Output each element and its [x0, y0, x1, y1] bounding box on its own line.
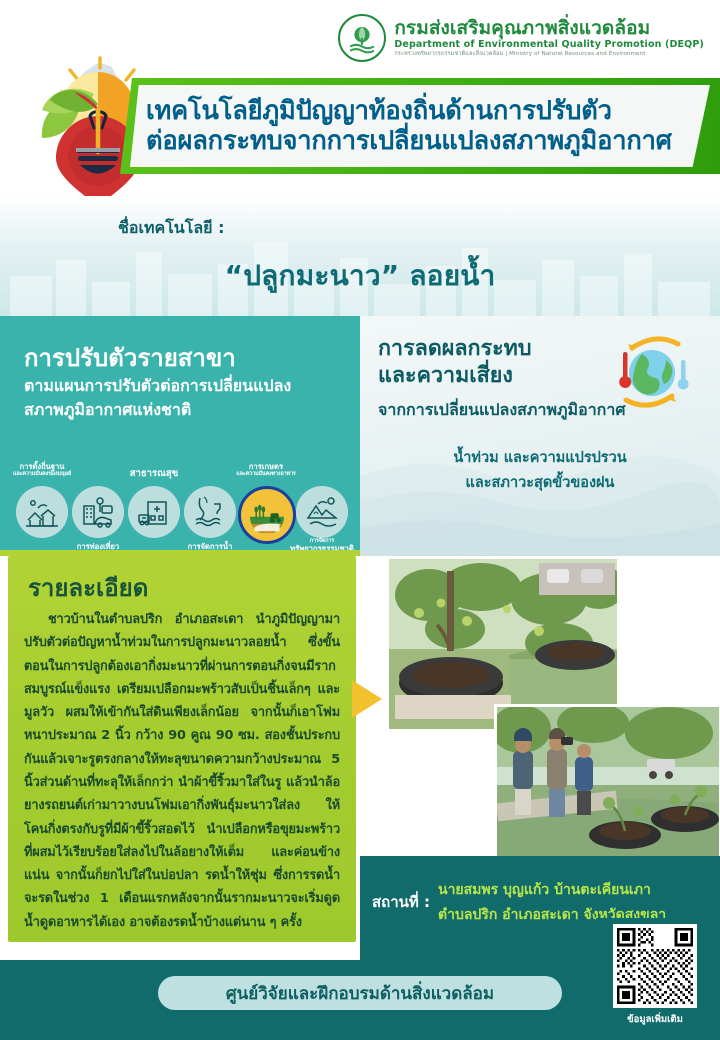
qr-code-caption: ข้อมูลเพิ่มเติม — [627, 1012, 683, 1027]
poster-header: กรมส่งเสริมคุณภาพสิ่งแวดล้อม Department … — [0, 0, 720, 200]
natural-resources-icon — [296, 486, 348, 538]
title-line-2: ต่อผลกระทบจากการเปลี่ยนแปลงสภาพภูมิอากาศ — [146, 126, 706, 156]
adaptation-subheading-line-2: สภาพภูมิอากาศแห่งชาติ — [24, 400, 191, 419]
technology-name-band: ชื่อเทคโนโลยี : “ปลูกมะนาว” ลอยน้ำ — [0, 196, 720, 316]
tourism-icon — [72, 486, 124, 538]
org-ministry-line: กระทรวงทรัพยากรธรรมชาติและสิ่งแวดล้อม | … — [394, 52, 704, 58]
mitigation-body-line-1: น้ำท่วม และความแปรปรวน — [453, 450, 626, 466]
qr-code-block[interactable]: ข้อมูลเพิ่มเติม — [596, 918, 714, 1036]
sector-item-settlement[interactable]: การตั้งถิ่นฐาน และความมั่นคงของมนุษย์ — [14, 486, 70, 538]
mitigation-heading-line-1: การลดผลกระทบ — [378, 336, 531, 361]
sector-item-natural-resources[interactable]: การจัดการ ทรัพยากรธรรมชาติ — [294, 486, 350, 538]
main-title-ribbon: เทคโนโลยีภูมิปัญญาท้องถิ่นด้านการปรับตัว… — [120, 78, 720, 174]
mitigation-panel: การลดผลกระทบ และความเสี่ยง จากการเปลี่ยน… — [360, 316, 720, 556]
footer-organization-label: ศูนย์วิจัยและฝึกอบรมด้านสิ่งแวดล้อม — [226, 980, 494, 1007]
mitigation-heading-line-2: และความเสี่ยง — [378, 363, 513, 388]
sector-caption-settlement: การตั้งถิ่นฐาน และความมั่นคงของมนุษย์ — [0, 462, 92, 478]
qr-code-image[interactable] — [613, 924, 697, 1008]
deqp-logo: กรมส่งเสริมคุณภาพสิ่งแวดล้อม Department … — [338, 14, 704, 62]
mitigation-subheading: จากการเปลี่ยนแปลงสภาพภูมิอากาศ — [378, 398, 708, 423]
adaptation-heading: การปรับตัวรายสาขา — [24, 338, 236, 377]
sector-caption-public-health: สาธารณสุข — [104, 468, 204, 479]
mitigation-body-line-2: และสภาวะสุดขั้วของฝน — [466, 475, 615, 491]
title-line-1: เทคโนโลยีภูมิปัญญาท้องถิ่นด้านการปรับตัว — [146, 96, 706, 126]
sector-sublabel-agriculture: และความมั่นคงทางอาหาร — [216, 471, 316, 477]
poster-root: กรมส่งเสริมคุณภาพสิ่งแวดล้อม Department … — [0, 0, 720, 1040]
villagers-inspecting-pond-photo — [494, 704, 720, 862]
sector-icon-row: การตั้งถิ่นฐาน และความมั่นคงของมนุษย์ — [0, 450, 360, 556]
settlement-icon — [16, 486, 68, 538]
sector-item-public-health[interactable]: สาธารณสุข — [126, 486, 182, 538]
org-name-english: Department of Environmental Quality Prom… — [394, 40, 704, 50]
details-heading: รายละเอียด — [28, 568, 148, 607]
mitigation-body: น้ำท่วม และความแปรปรวน และสภาวะสุดขั้วขอ… — [360, 446, 720, 496]
sector-item-agriculture[interactable]: การเกษตร และความมั่นคงทางอาหาร — [238, 486, 294, 544]
sector-label-settlement: การตั้งถิ่นฐาน — [19, 462, 64, 471]
org-name-thai: กรมส่งเสริมคุณภาพสิ่งแวดล้อม — [394, 18, 704, 38]
mitigation-heading: การลดผลกระทบ และความเสี่ยง — [378, 336, 608, 389]
sector-label-agriculture: การเกษตร — [249, 462, 283, 471]
adaptation-subheading: ตามแผนการปรับตัวต่อการเปลี่ยนแปลง สภาพภู… — [24, 374, 344, 423]
public-health-icon — [128, 486, 180, 538]
technology-label: ชื่อเทคโนโลยี : — [118, 216, 224, 241]
page-title: เทคโนโลยีภูมิปัญญาท้องถิ่นด้านการปรับตัว… — [146, 87, 706, 165]
sector-sublabel-settlement: และความมั่นคงของมนุษย์ — [0, 471, 92, 477]
sector-item-water-management[interactable]: การจัดการน้ำ — [182, 486, 238, 538]
technology-name: “ปลูกมะนาว” ลอยน้ำ — [0, 254, 720, 298]
adaptation-subheading-line-1: ตามแผนการปรับตัวต่อการเปลี่ยนแปลง — [24, 376, 291, 395]
location-label: สถานที่ : — [372, 890, 430, 914]
footer-organization-pill: ศูนย์วิจัยและฝึกอบรมด้านสิ่งแวดล้อม — [158, 976, 562, 1010]
deqp-emblem-icon — [338, 14, 386, 62]
sector-caption-agriculture: การเกษตร และความมั่นคงทางอาหาร — [216, 462, 316, 478]
water-management-icon — [184, 486, 236, 538]
details-body: ชาวบ้านในตำบลปริก อำเภอสะเดา นำภูมิปัญญา… — [24, 608, 340, 934]
sector-label-public-health: สาธารณสุข — [130, 468, 178, 479]
yellow-arrow-icon — [352, 676, 390, 722]
agriculture-icon — [238, 486, 296, 544]
details-section: รายละเอียด ชาวบ้านในตำบลปริก อำเภอสะเดา … — [8, 556, 356, 942]
location-line-1: นายสมพร บุญแก้ว บ้านตะเคียนเภา — [438, 878, 714, 903]
sector-item-tourism[interactable]: การท่องเที่ยว — [70, 486, 126, 538]
